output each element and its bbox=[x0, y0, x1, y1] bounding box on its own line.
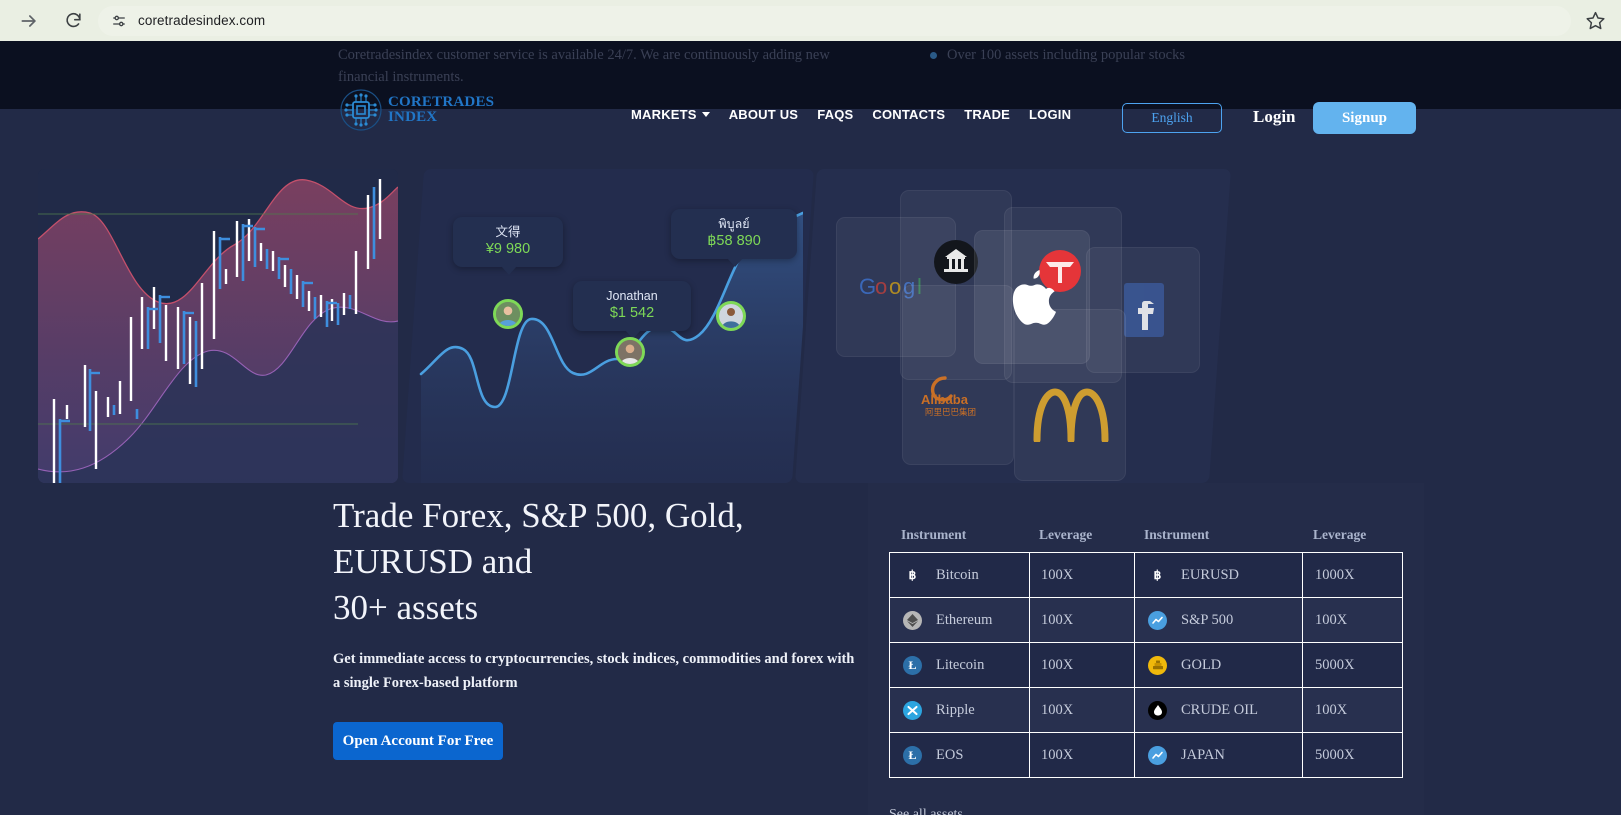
cell-instrument-1: ฿ Bitcoin bbox=[890, 553, 1030, 598]
cell-leverage-2: 100X bbox=[1303, 598, 1403, 643]
cell-instrument-1: Ł EOS bbox=[890, 733, 1030, 778]
svg-text:o: o bbox=[875, 274, 887, 299]
nav-label-faqs: FAQS bbox=[817, 107, 853, 122]
page-root: Coretradesindex customer service is avai… bbox=[0, 41, 1621, 815]
svg-text:G: G bbox=[859, 274, 876, 299]
nav-item-faqs[interactable]: FAQS bbox=[817, 107, 853, 122]
assets-table-section: Instrument Leverage Instrument Leverage … bbox=[889, 527, 1403, 778]
gold-icon bbox=[1148, 656, 1167, 675]
logo-wordmark: CORETRADES INDEX bbox=[388, 95, 494, 125]
bullet-dot-icon bbox=[930, 52, 937, 59]
ethereum-icon bbox=[903, 611, 922, 630]
headline-line-3: 30+ assets bbox=[333, 588, 478, 627]
hero-copy: Trade Forex, S&P 500, Gold, EURUSD and 3… bbox=[333, 493, 873, 760]
table-row[interactable]: ฿ Bitcoin 100X ฿ EURUSD 1000X bbox=[890, 553, 1403, 598]
header-login-link[interactable]: Login bbox=[1253, 107, 1296, 127]
ripple-icon bbox=[903, 701, 922, 720]
trader-amount-3: ฿58 890 bbox=[685, 232, 783, 251]
bitcoin-icon: ฿ bbox=[903, 566, 922, 585]
trader-tooltip-2: Jonathan $1 542 bbox=[573, 281, 691, 331]
cell-leverage-1: 100X bbox=[1030, 553, 1135, 598]
instrument-name: CRUDE OIL bbox=[1181, 702, 1258, 719]
nav-item-about-us[interactable]: ABOUT US bbox=[729, 107, 799, 122]
site-settings-icon[interactable] bbox=[110, 12, 128, 30]
col-header-instrument-1: Instrument bbox=[889, 527, 1029, 543]
candlestick-chart-graphic bbox=[38, 169, 398, 483]
cell-leverage-1: 100X bbox=[1030, 688, 1135, 733]
main-navbar: CORETRADES INDEX MARKETS ABOUT US FAQS C… bbox=[0, 93, 1621, 145]
logo-line-1: CORETRADES bbox=[388, 94, 494, 110]
trader-tooltip-3: พิบูลย์ ฿58 890 bbox=[671, 209, 797, 259]
cell-instrument-2: ฿ EURUSD bbox=[1135, 553, 1303, 598]
apple-logo bbox=[1005, 266, 1059, 328]
trader-tooltip-1: 文得 ¥9 980 bbox=[453, 217, 563, 267]
cell-instrument-1: Ethereum bbox=[890, 598, 1030, 643]
logo-line-2: INDEX bbox=[388, 110, 494, 125]
nav-item-contacts[interactable]: CONTACTS bbox=[872, 107, 945, 122]
cell-leverage-2: 100X bbox=[1303, 688, 1403, 733]
sp500-icon bbox=[1148, 611, 1167, 630]
trader-name-1: 文得 bbox=[467, 224, 549, 240]
instrument-name: EOS bbox=[936, 747, 963, 764]
assets-table: ฿ Bitcoin 100X ฿ EURUSD 1000X bbox=[889, 552, 1403, 778]
table-row[interactable]: Ł EOS 100X JAPAN 5000X bbox=[890, 733, 1403, 778]
table-row[interactable]: Ethereum 100X S&P 500 100X bbox=[890, 598, 1403, 643]
nav-label-trade: TRADE bbox=[964, 107, 1010, 122]
language-selector[interactable]: English bbox=[1122, 103, 1222, 133]
header-login-label: Login bbox=[1253, 107, 1296, 126]
hero-illustration: 文得 ¥9 980 Jonathan $1 542 พิบูลย์ ฿58 89… bbox=[38, 169, 1220, 483]
table-row[interactable]: Ripple 100X CRUDE OIL 100X bbox=[890, 688, 1403, 733]
nav-item-markets[interactable]: MARKETS bbox=[631, 107, 710, 122]
trader-name-3: พิบูลย์ bbox=[685, 216, 783, 232]
cell-instrument-1: Ł Litecoin bbox=[890, 643, 1030, 688]
cell-leverage-2: 1000X bbox=[1303, 553, 1403, 598]
nav-item-login[interactable]: LOGIN bbox=[1029, 107, 1071, 122]
instrument-name: Ripple bbox=[936, 702, 975, 719]
instrument-name: EURUSD bbox=[1181, 567, 1239, 584]
trader-avatar-2[interactable] bbox=[615, 337, 645, 367]
cell-leverage-1: 100X bbox=[1030, 643, 1135, 688]
cell-instrument-2: GOLD bbox=[1135, 643, 1303, 688]
svg-text:阿里巴巴集团: 阿里巴巴集团 bbox=[925, 407, 976, 417]
site-logo[interactable]: CORETRADES INDEX bbox=[338, 87, 494, 133]
star-icon[interactable] bbox=[1585, 10, 1607, 32]
cell-instrument-1: Ripple bbox=[890, 688, 1030, 733]
cell-leverage-1: 100X bbox=[1030, 598, 1135, 643]
trader-name-2: Jonathan bbox=[587, 288, 677, 304]
brand-card-apple bbox=[974, 230, 1090, 364]
svg-text:Alibaba: Alibaba bbox=[921, 392, 969, 407]
crudeoil-icon bbox=[1148, 701, 1167, 720]
mcdonalds-logo bbox=[1029, 386, 1113, 442]
instrument-name: GOLD bbox=[1181, 657, 1221, 674]
signup-button[interactable]: Signup bbox=[1313, 102, 1416, 134]
instrument-name: Litecoin bbox=[936, 657, 984, 674]
page-title: Trade Forex, S&P 500, Gold, EURUSD and 3… bbox=[333, 493, 873, 631]
circuit-chip-icon bbox=[338, 87, 384, 133]
hero-panel-social: 文得 ¥9 980 Jonathan $1 542 พิบูลย์ ฿58 89… bbox=[402, 169, 814, 483]
instrument-name: Ethereum bbox=[936, 612, 992, 629]
see-all-assets-link[interactable]: See all assets bbox=[889, 807, 963, 815]
hero-subtext: Get immediate access to cryptocurrencies… bbox=[333, 647, 861, 695]
cell-instrument-2: CRUDE OIL bbox=[1135, 688, 1303, 733]
cell-leverage-2: 5000X bbox=[1303, 733, 1403, 778]
browser-toolbar: coretradesindex.com bbox=[0, 0, 1621, 41]
nav-label-login: LOGIN bbox=[1029, 107, 1071, 122]
address-bar[interactable]: coretradesindex.com bbox=[98, 6, 1571, 36]
nav-label-markets: MARKETS bbox=[631, 107, 697, 122]
japan-icon bbox=[1148, 746, 1167, 765]
instrument-name: Bitcoin bbox=[936, 567, 979, 584]
trader-avatar-3[interactable] bbox=[716, 301, 746, 331]
trader-avatar-1[interactable] bbox=[493, 299, 523, 329]
ticker-right: Over 100 assets including popular stocks bbox=[930, 44, 1185, 66]
hero-panel-chart bbox=[38, 169, 398, 483]
open-account-label: Open Account For Free bbox=[343, 733, 494, 750]
eos-icon: Ł bbox=[903, 746, 922, 765]
nav-label-about-us: ABOUT US bbox=[729, 107, 799, 122]
headline-line-2: EURUSD and bbox=[333, 542, 532, 581]
col-header-leverage-1: Leverage bbox=[1029, 527, 1134, 543]
alibaba-logo: Alibaba 阿里巴巴集团 bbox=[921, 374, 1001, 418]
language-label: English bbox=[1151, 110, 1192, 126]
facebook-logo bbox=[1120, 281, 1166, 339]
open-account-button[interactable]: Open Account For Free bbox=[333, 722, 503, 760]
cell-leverage-2: 5000X bbox=[1303, 643, 1403, 688]
ticker-right-text: Over 100 assets including popular stocks bbox=[947, 44, 1185, 66]
nav-item-trade[interactable]: TRADE bbox=[964, 107, 1010, 122]
instrument-name: S&P 500 bbox=[1181, 612, 1233, 629]
cell-instrument-2: S&P 500 bbox=[1135, 598, 1303, 643]
url-text: coretradesindex.com bbox=[138, 13, 1559, 28]
cell-leverage-1: 100X bbox=[1030, 733, 1135, 778]
col-header-instrument-2: Instrument bbox=[1134, 527, 1302, 543]
table-row[interactable]: Ł Litecoin 100X GOLD 5000X bbox=[890, 643, 1403, 688]
nav-menu: MARKETS ABOUT US FAQS CONTACTS TRADE LOG… bbox=[631, 107, 1071, 122]
bank-logo bbox=[933, 239, 979, 285]
reload-icon[interactable] bbox=[58, 6, 88, 36]
trader-amount-2: $1 542 bbox=[587, 304, 677, 323]
forward-arrow-icon[interactable] bbox=[14, 6, 44, 36]
eurusd-icon: ฿ bbox=[1148, 566, 1167, 585]
signup-label: Signup bbox=[1342, 110, 1387, 127]
nav-label-contacts: CONTACTS bbox=[872, 107, 945, 122]
instrument-name: JAPAN bbox=[1181, 747, 1225, 764]
ticker-left-text: Coretradesindex customer service is avai… bbox=[338, 44, 858, 88]
headline-line-1: Trade Forex, S&P 500, Gold, bbox=[333, 496, 744, 535]
cell-instrument-2: JAPAN bbox=[1135, 733, 1303, 778]
litecoin-icon: Ł bbox=[903, 656, 922, 675]
col-header-leverage-2: Leverage bbox=[1302, 527, 1402, 543]
chevron-down-icon bbox=[702, 112, 710, 117]
trader-amount-1: ¥9 980 bbox=[467, 240, 549, 259]
assets-table-header: Instrument Leverage Instrument Leverage bbox=[889, 527, 1403, 543]
hero-panel-brands: G o o g l Al bbox=[795, 169, 1231, 483]
